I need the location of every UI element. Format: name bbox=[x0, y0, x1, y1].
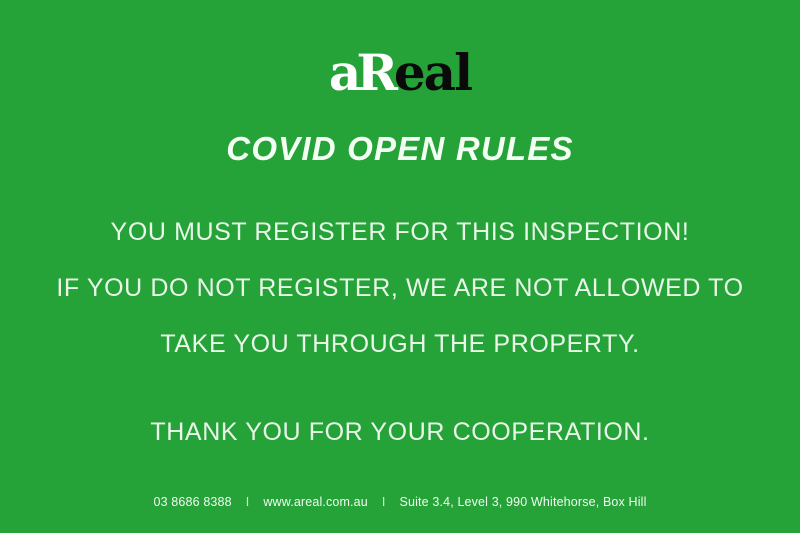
footer-contact-bar: 03 8686 8388 I www.areal.com.au I Suite … bbox=[0, 495, 800, 509]
footer-phone: 03 8686 8388 bbox=[153, 495, 231, 509]
body-line-3: TAKE YOU THROUGH THE PROPERTY. bbox=[0, 316, 800, 372]
logo-letter-a: a bbox=[329, 43, 359, 102]
body-line-2: IF YOU DO NOT REGISTER, WE ARE NOT ALLOW… bbox=[0, 260, 800, 316]
footer-address: Suite 3.4, Level 3, 990 Whitehorse, Box … bbox=[400, 495, 647, 509]
areal-logo-text: aReal bbox=[329, 48, 471, 98]
footer-separator-1: I bbox=[246, 495, 250, 509]
logo-letters-eal: eal bbox=[394, 43, 471, 102]
footer-website: www.areal.com.au bbox=[263, 495, 368, 509]
brand-logo: aReal bbox=[329, 42, 471, 104]
logo-letter-r: R bbox=[356, 43, 396, 102]
footer-separator-2: I bbox=[382, 495, 386, 509]
body-text-block: YOU MUST REGISTER FOR THIS INSPECTION! I… bbox=[0, 204, 800, 460]
page-title: COVID OPEN RULES bbox=[226, 130, 573, 168]
covid-open-rules-poster: aReal COVID OPEN RULES YOU MUST REGISTER… bbox=[0, 0, 800, 533]
body-line-4: THANK YOU FOR YOUR COOPERATION. bbox=[0, 404, 800, 460]
body-line-1: YOU MUST REGISTER FOR THIS INSPECTION! bbox=[0, 204, 800, 260]
